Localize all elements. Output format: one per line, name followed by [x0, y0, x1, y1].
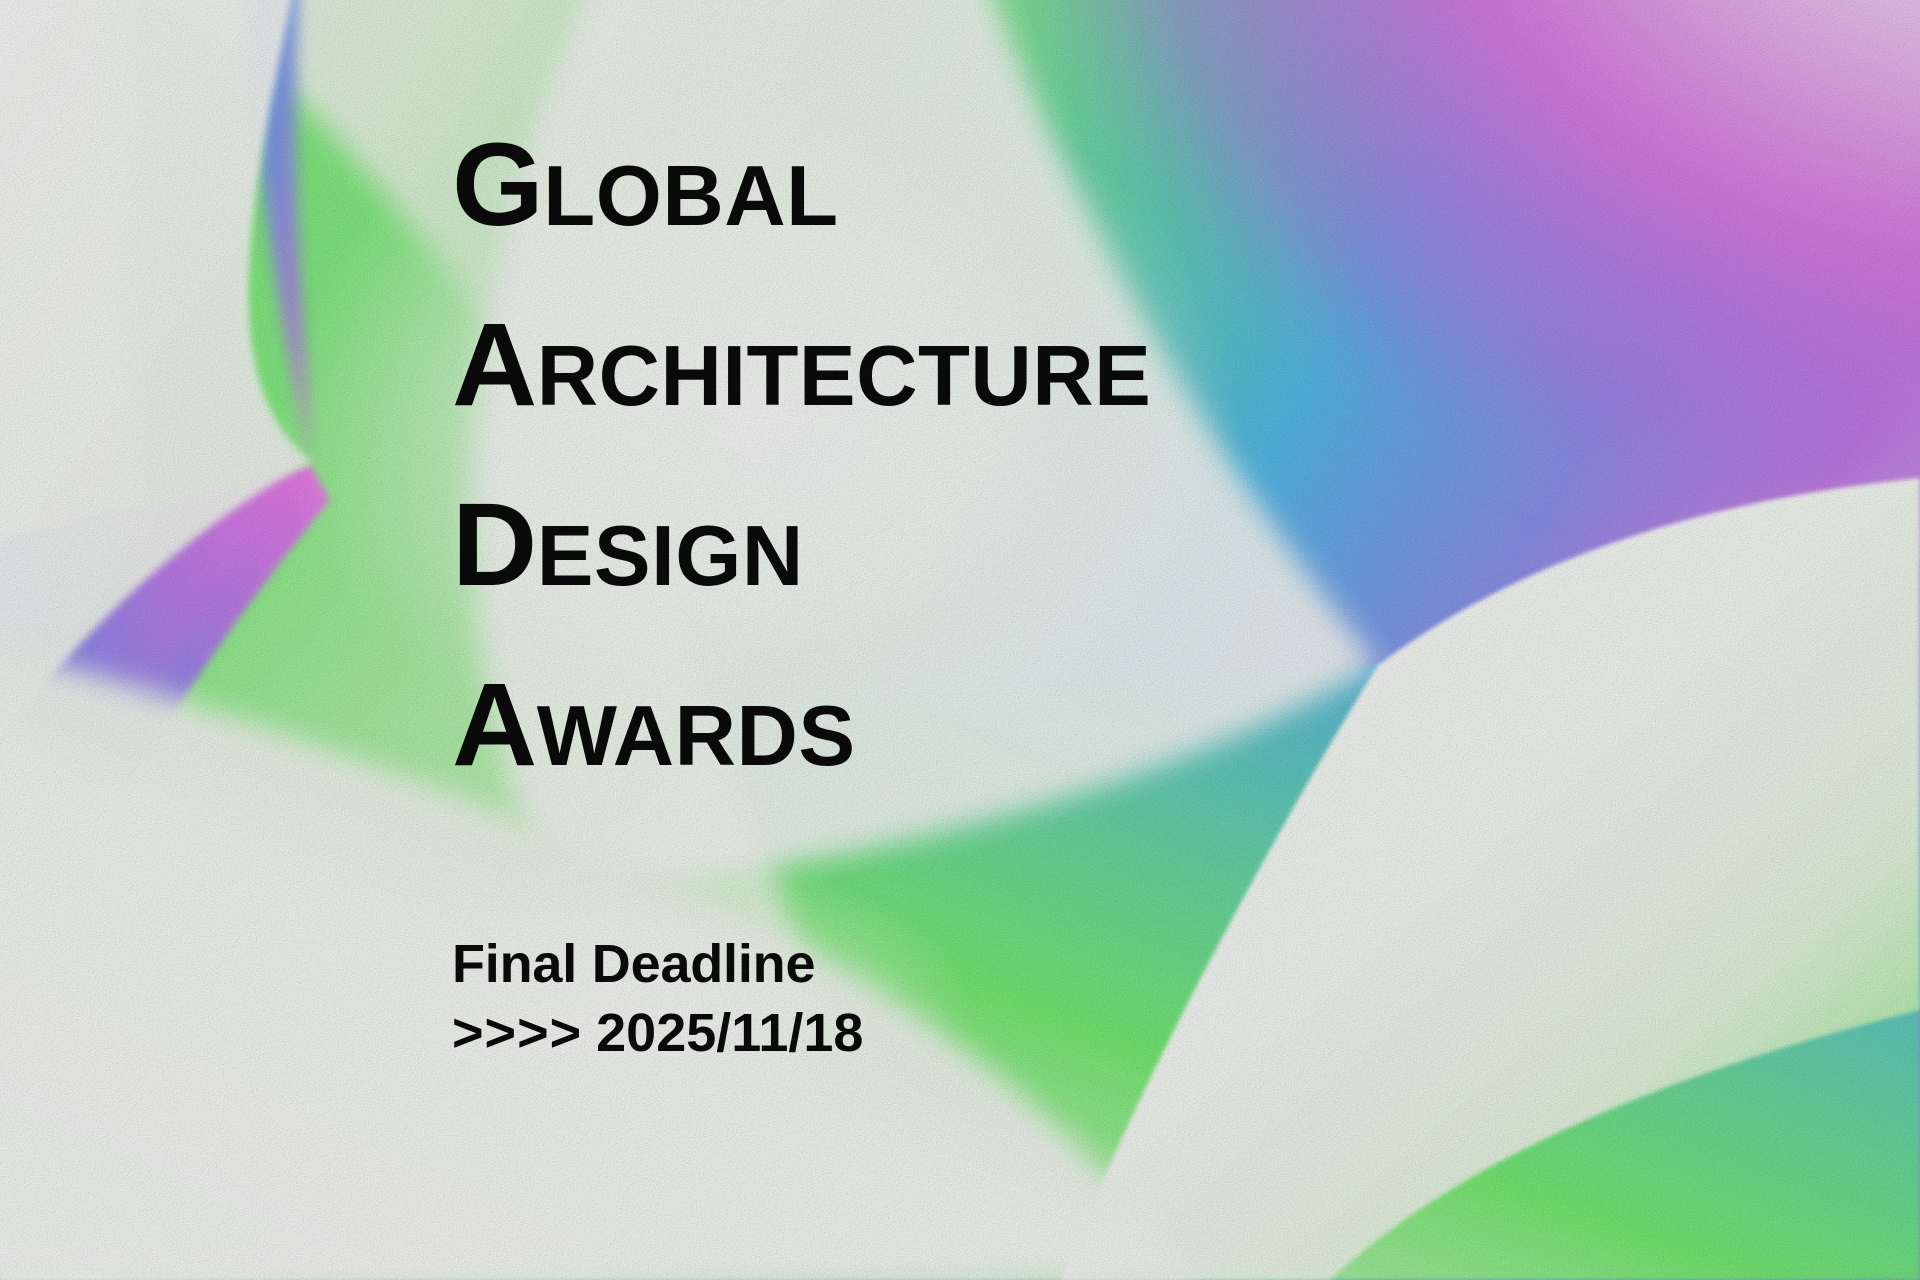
- poster-canvas: GLOBAL ARCHITECTURE DESIGN AWARDS Final …: [0, 0, 1920, 1280]
- poster-content: GLOBAL ARCHITECTURE DESIGN AWARDS Final …: [0, 0, 1920, 1280]
- deadline-date-row: >>>>2025/11/18: [452, 999, 863, 1068]
- title-initial-d: D: [452, 479, 537, 611]
- title-initial-a2: A: [452, 659, 537, 791]
- title-line-architecture: ARCHITECTURE: [452, 306, 1151, 424]
- title-line-design: DESIGN: [452, 486, 804, 604]
- title-initial-g: G: [452, 119, 543, 251]
- title-line-global: GLOBAL: [452, 126, 839, 244]
- deadline-block: Final Deadline >>>>2025/11/18: [452, 930, 863, 1068]
- chevron-right-icon: >>>>: [452, 1003, 582, 1063]
- title-remainder-architecture: RCHITECTURE: [537, 329, 1152, 424]
- title-initial-a1: A: [452, 299, 537, 431]
- title-remainder-global: LOBAL: [543, 149, 838, 244]
- deadline-date-value: 2025/11/18: [596, 1003, 863, 1063]
- title-line-awards: AWARDS: [452, 666, 856, 784]
- title-remainder-design: ESIGN: [537, 509, 804, 604]
- deadline-label: Final Deadline: [452, 930, 863, 999]
- title-remainder-awards: WARDS: [537, 689, 856, 784]
